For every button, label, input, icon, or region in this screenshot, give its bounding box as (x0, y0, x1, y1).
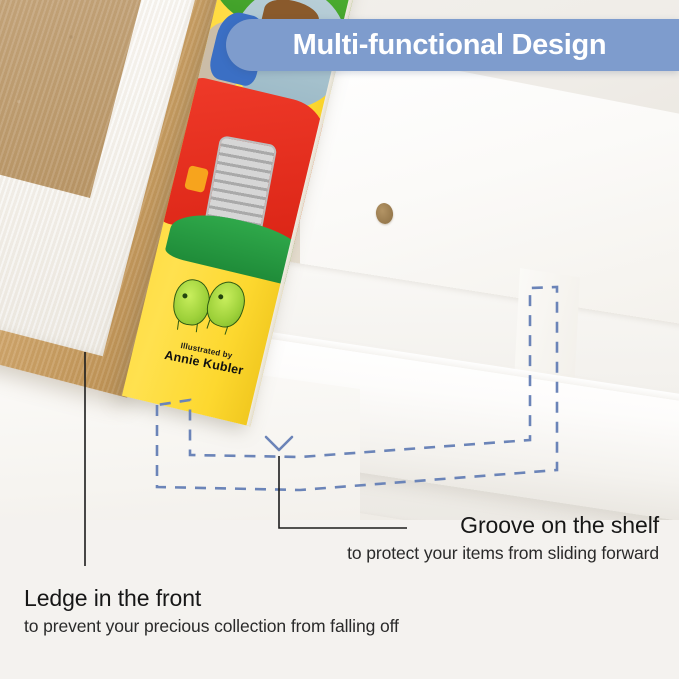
book-art-chick-left (171, 277, 213, 327)
annotation-groove: Groove on the shelf to protect your item… (347, 512, 659, 565)
book-credit: Illustrated by Annie Kubler (157, 337, 252, 380)
annotation-ledge-title: Ledge in the front (24, 585, 399, 612)
frame-kraft-backing (0, 0, 158, 198)
annotation-groove-subtitle: to protect your items from sliding forwa… (347, 542, 659, 565)
annotation-ledge-subtitle: to prevent your precious collection from… (24, 615, 399, 638)
annotation-groove-title: Groove on the shelf (347, 512, 659, 539)
product-photo: Illustrated by Annie Kubler (0, 0, 679, 520)
annotation-ledge: Ledge in the front to prevent your preci… (24, 585, 399, 638)
book-art-chick-right (202, 277, 251, 332)
product-feature-image: Illustrated by Annie Kubler Multi-functi… (0, 0, 679, 679)
header-banner: Multi-functional Design (226, 19, 679, 71)
banner-title: Multi-functional Design (293, 29, 613, 62)
